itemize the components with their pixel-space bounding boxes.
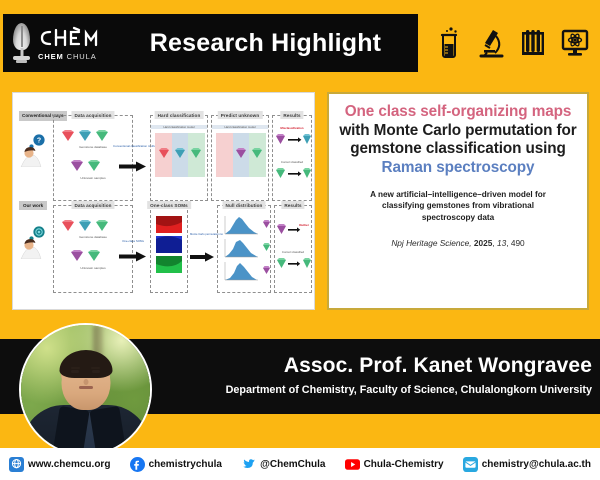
logo-sub-light: CHULA (67, 52, 97, 61)
chem-wordmark-glyph (38, 26, 102, 50)
figure-col-predict-unknown: Predict unknown Hard classification mode… (211, 115, 269, 201)
footer-label-twitter: @ChemChula (260, 459, 325, 470)
arrow-icon (119, 159, 146, 177)
youtube-icon (345, 457, 360, 472)
arrow-label-monte-carlo: Monte Carlo permutation tests (190, 233, 214, 236)
footer-label-website: www.chemcu.org (28, 459, 110, 470)
microscope-icon (476, 26, 506, 60)
title-pink-1: One class self-organizing (345, 103, 528, 120)
label-outlier: Outlier (299, 223, 309, 227)
figure-col-one-class-soms: One-class SOMs (150, 205, 188, 293)
col-header: One-class SOMs (147, 201, 191, 209)
col-header: Hard classification (155, 111, 204, 119)
label-correct-classified: Correct classified (273, 160, 311, 164)
citation-journal: Npj Heritage Science, (391, 238, 471, 248)
presenter-name: Assoc. Prof. Kanet Wongravee (262, 354, 592, 378)
header-science-icons (428, 20, 596, 66)
footer-label-youtube: Chula-Chemistry (364, 459, 444, 470)
footer-label-facebook: chemistrychula (149, 459, 222, 470)
website-icon (9, 457, 24, 472)
poster-header: CHEM CHULA Research Highlight (0, 14, 600, 72)
figure-row-our-work: Our work Data acquisition (17, 205, 312, 293)
citation-comma-2: , (506, 238, 508, 248)
contact-footer: www.chemcu.org chemistrychula @ChemChula… (0, 448, 600, 480)
article-title: One class self-organizing maps with Mont… (339, 103, 577, 178)
figure-col-hard-classification: Hard classification Hard classification … (150, 115, 208, 201)
svg-text:?: ? (37, 138, 41, 145)
som-map-green (156, 256, 182, 273)
label-correct-classified-2: Correct classified (275, 250, 311, 254)
col-header: Data acquisition (71, 111, 114, 119)
arrow-icon-3 (190, 249, 214, 267)
figure-col-results-ourwork: Results Outlier Correct classified (274, 205, 312, 293)
null-dist-hist-1 (223, 215, 261, 235)
footer-item-email[interactable]: chemistry@chula.ac.th (463, 457, 591, 472)
footer-item-website[interactable]: www.chemcu.org (9, 457, 110, 472)
som-map-blue (156, 236, 182, 253)
facebook-icon (130, 457, 145, 472)
col-header: Predict unknown (218, 111, 263, 119)
row-label-our-work: Our work (19, 201, 47, 210)
col-header: Null distribution (223, 201, 266, 209)
chulalongkorn-emblem-icon (12, 22, 31, 64)
subtitle-line-1: A new artificial–intelligence–driven mod… (370, 189, 546, 201)
col-header: Results (280, 111, 303, 119)
subtitle-line-2: classifying gemstones from vibrational (370, 200, 546, 212)
logo-sub-bold: CHEM (38, 52, 64, 61)
citation-pages: 490 (511, 238, 525, 248)
page-title: Research Highlight (131, 29, 418, 58)
email-icon (463, 457, 478, 472)
article-citation: Npj Heritage Science, 2025, 13, 490 (391, 238, 524, 248)
atom-monitor-icon (560, 26, 590, 60)
label-misclassification: Misclassification (273, 126, 311, 130)
beaker-icon (434, 26, 464, 60)
presenter-affiliation: Department of Chemistry, Faculty of Scie… (170, 384, 592, 396)
article-subtitle: A new artificial–intelligence–driven mod… (370, 189, 546, 224)
footer-item-twitter[interactable]: @ChemChula (241, 457, 325, 472)
title-mid-3: classification using (426, 140, 566, 157)
figure-row-conventional: Conventional ways ? Data acquisition (17, 115, 312, 201)
title-mid-1: with Monte Carlo (339, 122, 461, 139)
footer-item-youtube[interactable]: Chula-Chemistry (345, 457, 444, 472)
som-map-red (156, 216, 182, 233)
arrow-label-conventional: Conventional classification methods (113, 145, 153, 149)
title-blue-2: spectroscopy (436, 159, 534, 176)
scientist-illustration: ? (17, 133, 47, 167)
figure-col-results-conventional: Results Misclassification Correct classi… (272, 115, 312, 201)
footer-item-facebook[interactable]: chemistrychula (130, 457, 222, 472)
chem-chula-subtext: CHEM CHULA (38, 52, 102, 61)
title-blue-1: Raman (382, 159, 433, 176)
scientist-illustration-2 (17, 225, 47, 259)
footer-label-email: chemistry@chula.ac.th (482, 459, 591, 470)
portrait-photo (19, 323, 152, 456)
title-pink-2: maps (532, 103, 572, 120)
citation-comma-1: , (492, 238, 494, 248)
null-dist-hist-3 (223, 261, 261, 281)
header-black-bar: CHEM CHULA Research Highlight (3, 14, 418, 72)
col-header: Results (281, 201, 304, 209)
caption-hard-model-2: Hard classification model (212, 125, 268, 129)
figure-col-data-acquisition-conventional: Data acquisition Gemstone database Unkno… (53, 115, 133, 201)
caption-hard-model: Hard classification model (151, 125, 207, 129)
research-figure-panel: Conventional ways ? Data acquisition (12, 92, 315, 310)
arrow-label-one-class-soms: One-class SOMs (115, 239, 151, 243)
arrow-icon-2 (119, 249, 146, 267)
figure-col-null-distribution: Null distribution (217, 205, 271, 293)
highlight-text-card: One class self-organizing maps with Mont… (327, 92, 589, 310)
citation-volume: 13 (497, 238, 506, 248)
citation-year: 2025 (474, 238, 492, 248)
chem-chula-logo: CHEM CHULA (3, 22, 131, 64)
twitter-icon (241, 457, 256, 472)
null-dist-hist-2 (223, 238, 261, 258)
subtitle-line-3: spectroscopy data (370, 212, 546, 224)
test-tube-rack-icon (518, 26, 548, 60)
col-header: Data acquisition (71, 201, 114, 209)
chem-wordmark: CHEM CHULA (38, 26, 102, 61)
